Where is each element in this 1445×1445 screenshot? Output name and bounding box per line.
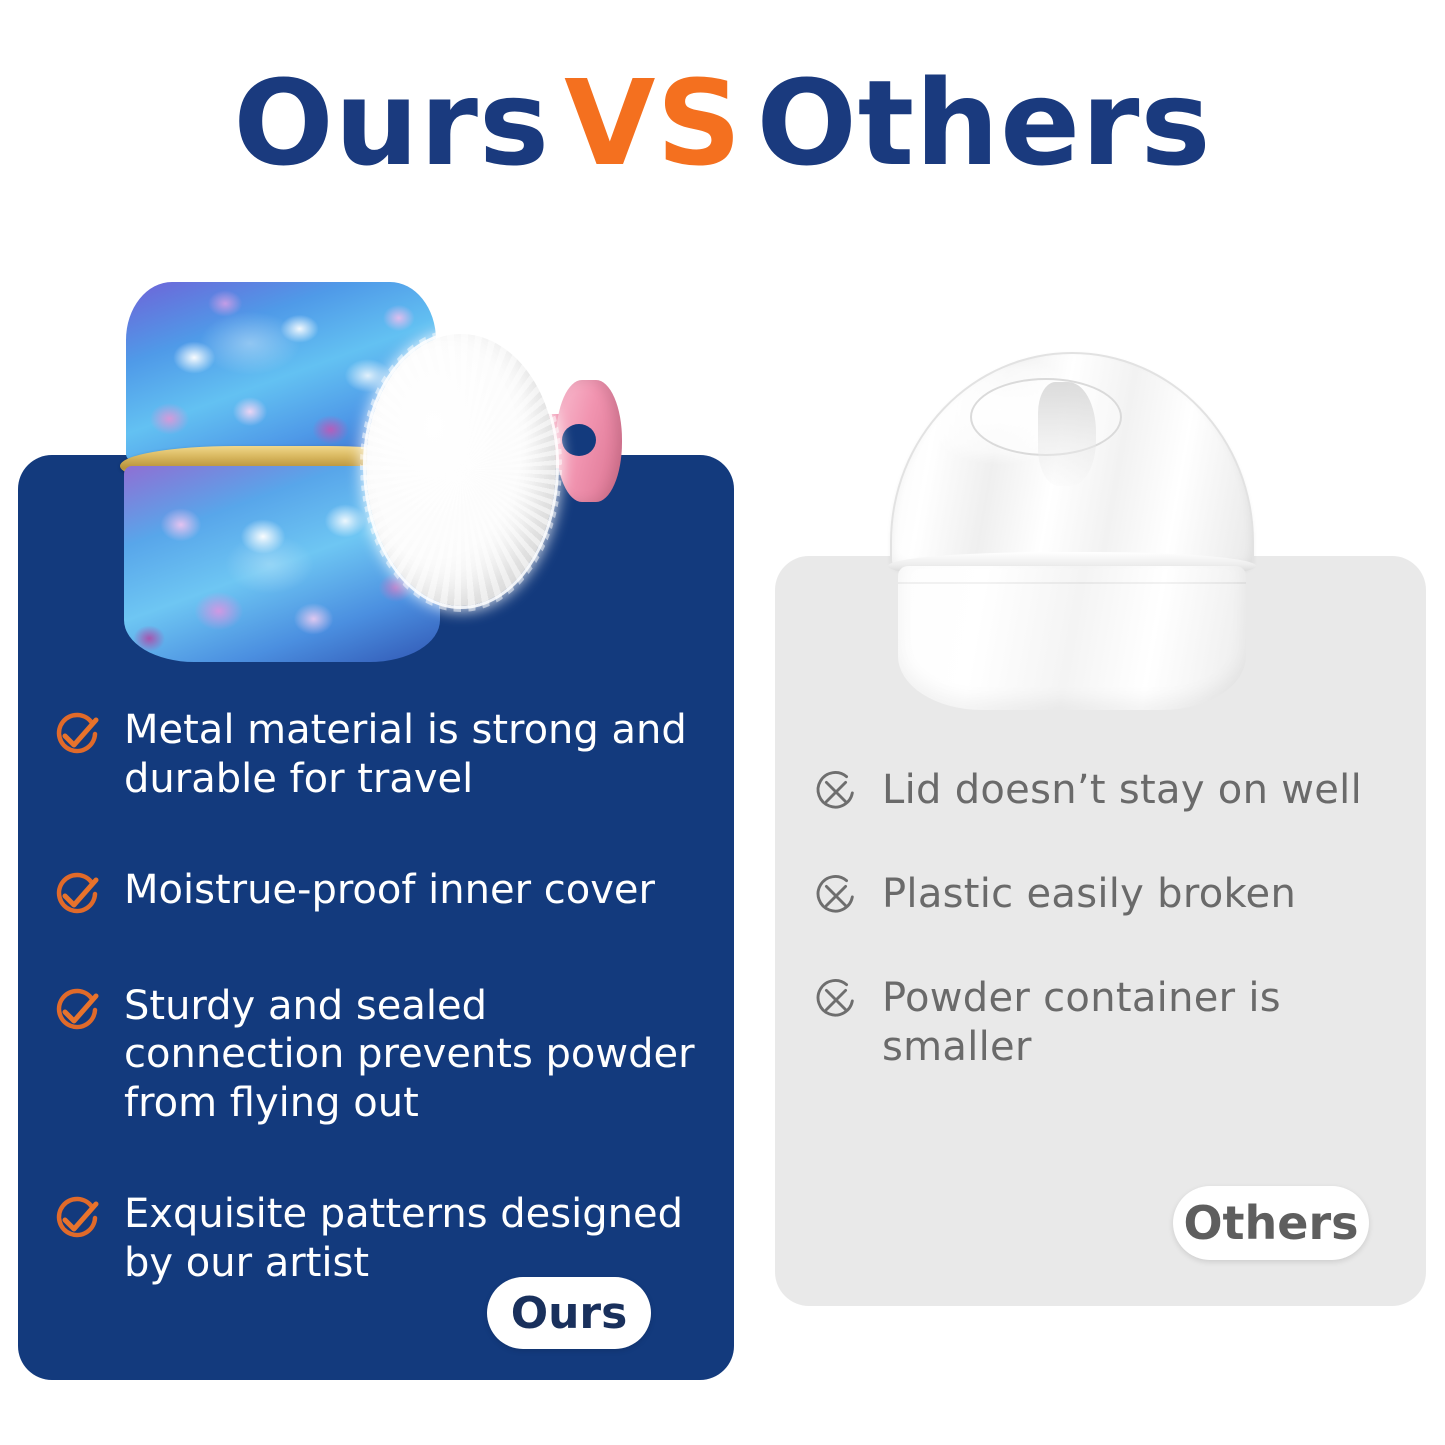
list-item: Moistrue-proof inner cover (52, 866, 720, 920)
list-item-label: Lid doesn’t stay on well (882, 766, 1362, 815)
x-circle-icon (812, 976, 860, 1024)
comparison-infographic: OursVSOthers Me (0, 0, 1445, 1445)
check-circle-icon (52, 1194, 102, 1244)
check-circle-icon (52, 986, 102, 1036)
title-word-ours: Ours (233, 54, 550, 192)
list-item: Metal material is strong and durable for… (52, 706, 720, 804)
page-title: OursVSOthers (0, 62, 1445, 186)
list-item-label: Exquisite patterns designed by our artis… (124, 1190, 720, 1288)
list-item: Lid doesn’t stay on well (812, 766, 1412, 816)
x-circle-icon (812, 872, 860, 920)
white-plastic-base (898, 566, 1246, 710)
others-product-image (862, 352, 1282, 712)
ours-feature-list: Metal material is strong and durable for… (52, 706, 720, 1288)
ours-badge: Ours (487, 1277, 651, 1349)
ours-product-image (108, 252, 708, 672)
list-item-label: Moistrue-proof inner cover (124, 866, 655, 915)
others-badge: Others (1173, 1186, 1369, 1260)
title-word-vs: VS (564, 54, 742, 192)
powder-puff (366, 334, 556, 606)
clear-dome-lid (890, 352, 1254, 570)
list-item-label: Metal material is strong and durable for… (124, 706, 720, 804)
check-circle-icon (52, 710, 102, 760)
list-item: Sturdy and sealed connection prevents po… (52, 982, 720, 1128)
list-item-label: Plastic easily broken (882, 870, 1296, 919)
check-circle-icon (52, 870, 102, 920)
puff-handle-knob (556, 380, 622, 502)
others-feature-list: Lid doesn’t stay on well Plastic easily … (812, 766, 1412, 1072)
list-item-label: Sturdy and sealed connection prevents po… (124, 982, 720, 1128)
list-item: Powder container is smaller (812, 974, 1412, 1072)
title-word-others: Others (756, 54, 1211, 192)
list-item: Exquisite patterns designed by our artis… (52, 1190, 720, 1288)
x-circle-icon (812, 768, 860, 816)
list-item: Plastic easily broken (812, 870, 1412, 920)
list-item-label: Powder container is smaller (882, 974, 1412, 1072)
